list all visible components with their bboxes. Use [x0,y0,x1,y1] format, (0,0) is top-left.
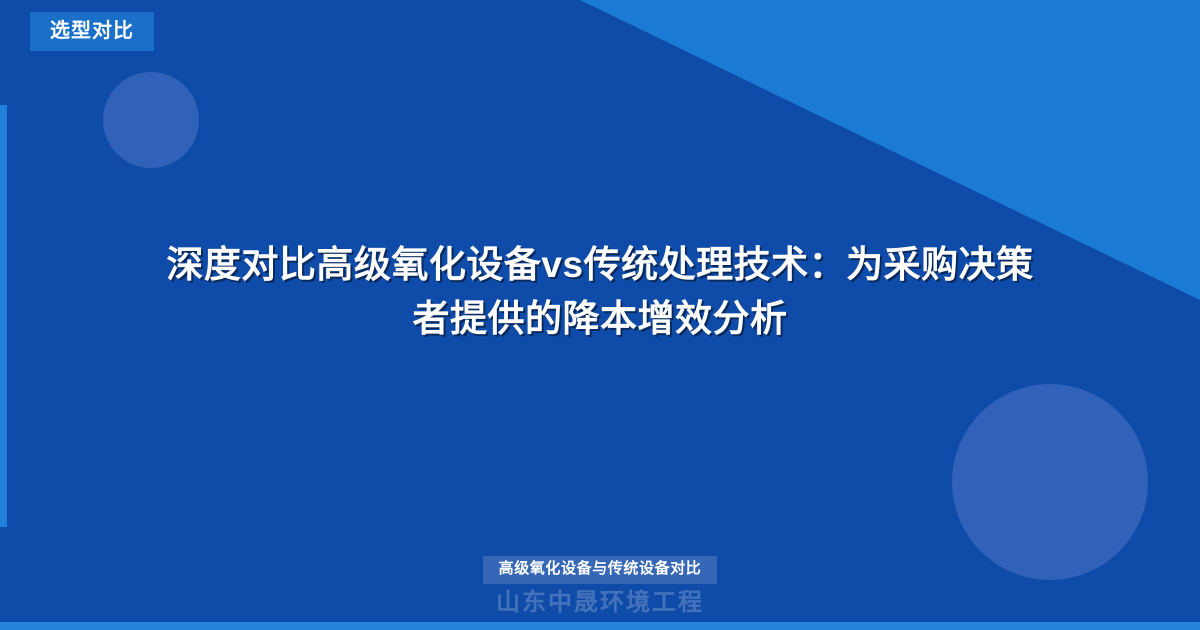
footer-badge-container: 高级氧化设备与传统设备对比 [0,556,1200,584]
category-badge: 选型对比 [30,12,154,51]
decorative-circle-bottom-right [952,384,1148,580]
page-title-text: 深度对比高级氧化设备vs传统处理技术：为采购决策者提供的降本增效分析 [150,238,1050,345]
decorative-circle-top-left [103,72,199,168]
decorative-bottom-accent-bar [0,622,1200,630]
page-title-line-1: 深度对比高级氧化设备vs传统处理技术：为采购 [166,244,958,285]
footer-badge: 高级氧化设备与传统设备对比 [483,556,718,584]
cover-card: 选型对比 深度对比高级氧化设备vs传统处理技术：为采购决策者提供的降本增效分析 … [0,0,1200,630]
brand-watermark: 山东中晟环境工程 [496,589,704,616]
page-title: 深度对比高级氧化设备vs传统处理技术：为采购决策者提供的降本增效分析 [0,238,1200,345]
watermark-container: 山东中晟环境工程 [0,590,1200,616]
